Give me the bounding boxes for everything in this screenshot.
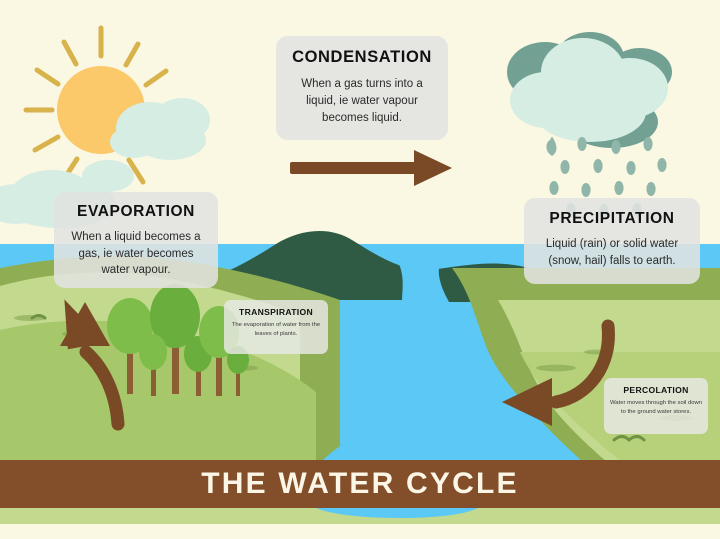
percolation-body: Water moves through the soil down to the…: [609, 399, 703, 416]
transpiration-body: The evaporation of water from the leaves…: [229, 321, 323, 338]
label-box-percolation: PERCOLATION Water moves through the soil…: [604, 378, 708, 434]
page-title: THE WATER CYCLE: [201, 467, 518, 501]
label-box-precipitation: PRECIPITATION Liquid (rain) or solid wat…: [524, 198, 700, 284]
evaporation-title: EVAPORATION: [63, 203, 209, 221]
precipitation-title: PRECIPITATION: [532, 210, 692, 228]
transpiration-title: TRANSPIRATION: [229, 307, 323, 317]
precipitation-body: Liquid (rain) or solid water (snow, hail…: [532, 236, 692, 270]
percolation-title: PERCOLATION: [609, 385, 703, 395]
condensation-body: When a gas turns into a liquid, ie water…: [286, 76, 438, 127]
label-box-condensation: CONDENSATION When a gas turns into a liq…: [276, 36, 448, 140]
title-banner: THE WATER CYCLE: [0, 460, 720, 508]
label-box-transpiration: TRANSPIRATION The evaporation of water f…: [224, 300, 328, 354]
label-box-evaporation: EVAPORATION When a liquid becomes a gas,…: [54, 192, 218, 288]
cloud-icon-left-edge: [82, 160, 134, 192]
evaporation-body: When a liquid becomes a gas, ie water be…: [63, 229, 209, 279]
condensation-title: CONDENSATION: [286, 48, 438, 67]
water-cycle-poster: CONDENSATION When a gas turns into a liq…: [0, 0, 720, 539]
bottom-margin: [0, 524, 720, 539]
